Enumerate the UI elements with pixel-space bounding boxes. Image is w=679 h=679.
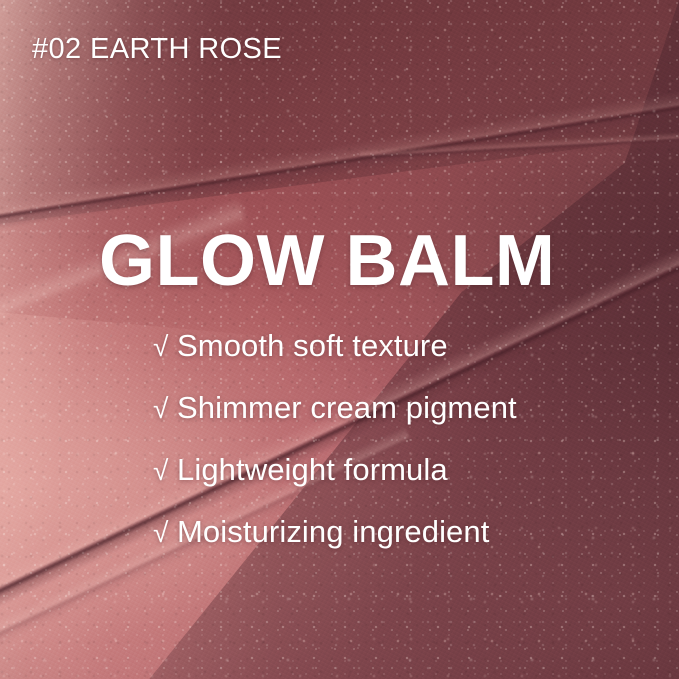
check-icon: √ xyxy=(153,519,177,547)
feature-label: Shimmer cream pigment xyxy=(177,390,517,426)
list-item: √ Shimmer cream pigment xyxy=(153,390,517,452)
feature-label: Smooth soft texture xyxy=(177,328,448,364)
check-icon: √ xyxy=(153,395,177,423)
product-swatch-banner: #02 EARTH ROSE GLOW BALM √ Smooth soft t… xyxy=(0,0,679,679)
list-item: √ Moisturizing ingredient xyxy=(153,514,517,576)
shade-label: #02 EARTH ROSE xyxy=(32,33,282,66)
check-icon: √ xyxy=(153,457,177,485)
page-title: GLOW BALM xyxy=(99,220,555,302)
feature-list: √ Smooth soft texture √ Shimmer cream pi… xyxy=(153,328,517,576)
feature-label: Lightweight formula xyxy=(177,452,448,488)
smear-edge-top xyxy=(0,80,679,236)
list-item: √ Lightweight formula xyxy=(153,452,517,514)
check-icon: √ xyxy=(153,333,177,361)
feature-label: Moisturizing ingredient xyxy=(177,514,489,550)
smear-edge-top-hairline xyxy=(360,130,679,164)
list-item: √ Smooth soft texture xyxy=(153,328,517,390)
